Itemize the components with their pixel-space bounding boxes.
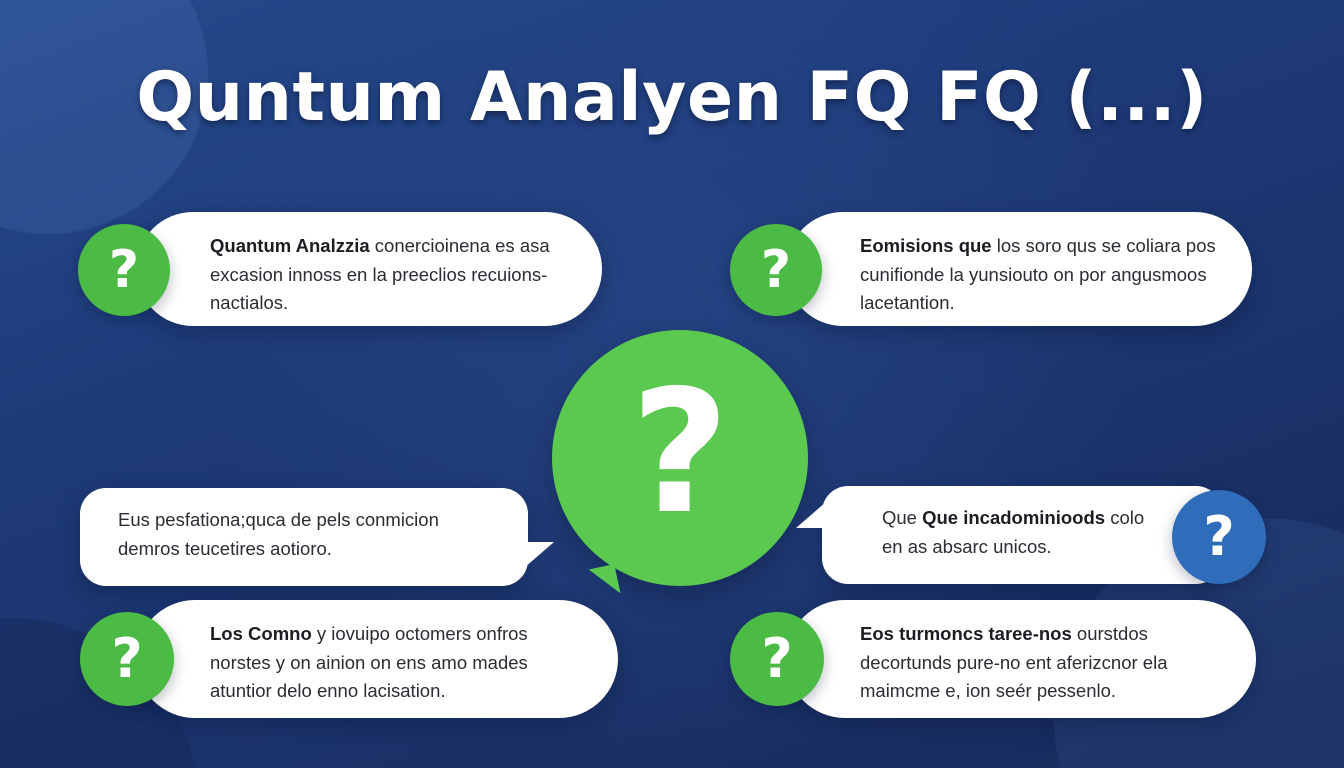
faq-card-3-bubble-tail bbox=[524, 542, 554, 568]
faq-card-2-question-icon[interactable]: ? bbox=[730, 224, 822, 316]
faq-card-5-lead: Los Comno bbox=[210, 623, 312, 644]
faq-card-5-question-icon[interactable]: ? bbox=[80, 612, 174, 706]
faq-card-1-question-icon[interactable]: ? bbox=[78, 224, 170, 316]
faq-card-4-question-icon[interactable]: ? bbox=[1172, 490, 1266, 584]
faq-card-6[interactable]: Eos turmoncs taree-nos ourstdos decortun… bbox=[786, 600, 1256, 718]
faq-card-5-text: Los Comno y iovuipo octomers onfros nors… bbox=[210, 620, 584, 706]
faq-card-1-lead: Quantum Analzzia bbox=[210, 235, 370, 256]
page-title: Quntum Analyen FQ FQ (...) bbox=[0, 62, 1344, 133]
faq-card-6-text: Eos turmoncs taree-nos ourstdos decortun… bbox=[860, 620, 1230, 706]
faq-card-6-lead: Eos turmoncs taree-nos bbox=[860, 623, 1072, 644]
faq-card-5[interactable]: Los Comno y iovuipo octomers onfros nors… bbox=[136, 600, 618, 718]
faq-infographic: Quntum Analyen FQ FQ (...) ? Quantum Ana… bbox=[0, 0, 1344, 768]
faq-card-2-lead: Eomisions que bbox=[860, 235, 992, 256]
faq-card-4-lead: Que incadominioods bbox=[922, 507, 1105, 528]
faq-card-2[interactable]: Eomisions que los soro qus se coliara po… bbox=[786, 212, 1252, 326]
faq-card-2-text: Eomisions que los soro qus se coliara po… bbox=[860, 232, 1222, 318]
faq-card-1[interactable]: Quantum Analzzia conercioinena es asa ex… bbox=[136, 212, 602, 326]
faq-card-3-text: Eus pesfationa;quca de pels conmicion de… bbox=[118, 506, 494, 563]
faq-card-6-question-icon[interactable]: ? bbox=[730, 612, 824, 706]
faq-card-4-bubble-tail bbox=[796, 502, 826, 528]
faq-card-4-prefix: Que bbox=[882, 507, 922, 528]
center-question-bubble: ? bbox=[552, 330, 808, 586]
faq-card-4[interactable]: Que Que incadominioods colo en as absarc… bbox=[822, 486, 1222, 584]
faq-card-3[interactable]: Eus pesfationa;quca de pels conmicion de… bbox=[80, 488, 528, 586]
faq-card-1-text: Quantum Analzzia conercioinena es asa ex… bbox=[210, 232, 566, 318]
center-question-mark-icon: ? bbox=[552, 330, 808, 586]
faq-card-4-text: Que Que incadominioods colo en as absarc… bbox=[882, 504, 1152, 561]
